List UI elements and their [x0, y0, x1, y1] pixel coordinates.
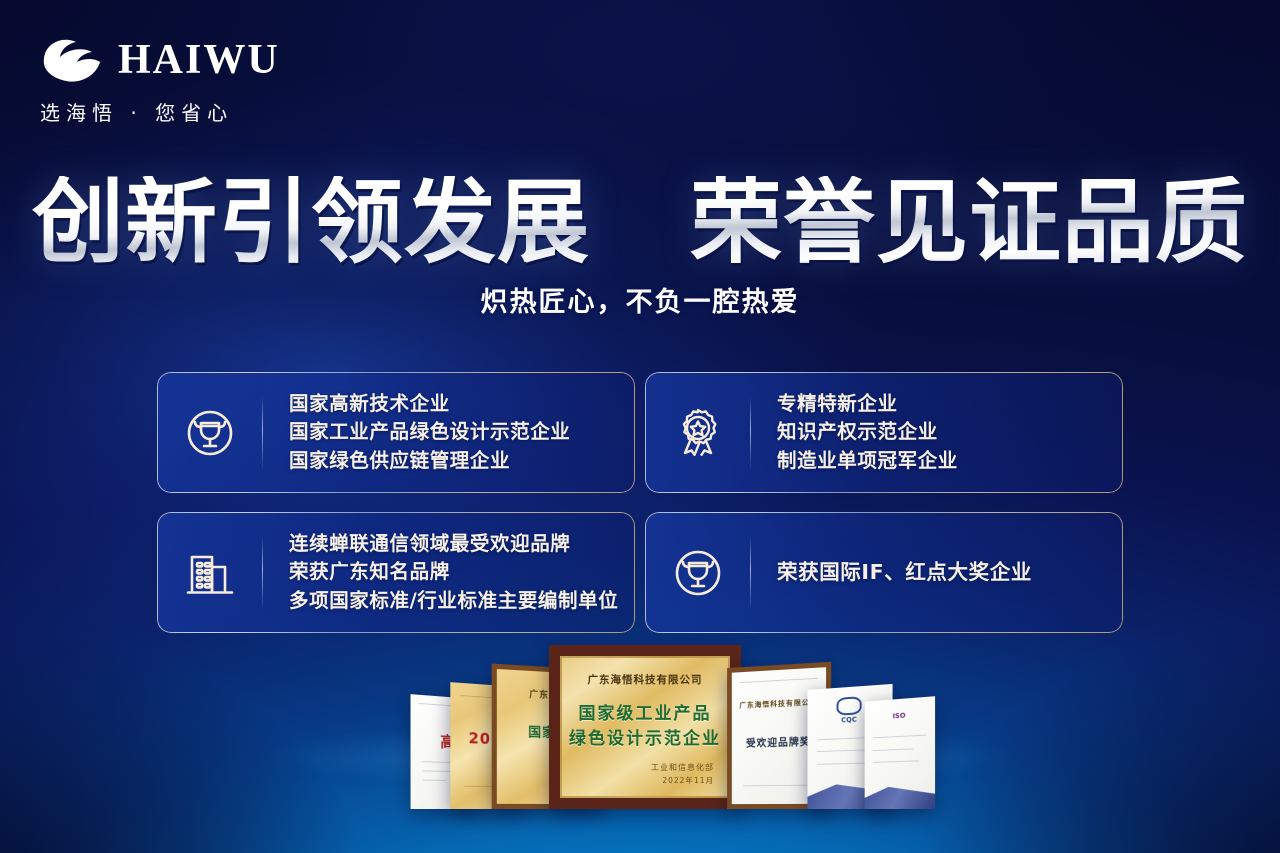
credential-line: 知识产权示范企业	[777, 418, 958, 446]
certificate-right-3: ISO	[865, 696, 935, 809]
poster-canvas: HAIWU 选海悟 · 您省心 创新引领发展 荣誉见证品质 炽热匠心，不负一腔热…	[0, 0, 1280, 853]
hero-headline: 创新引领发展 荣誉见证品质	[0, 176, 1280, 270]
plaque-issuer: 工业和信息化部	[624, 762, 714, 773]
brand-tagline: 选海悟 · 您省心	[40, 97, 340, 126]
credential-card-2-lines: 专精特新企业 知识产权示范企业 制造业单项冠军企业	[751, 390, 970, 475]
credential-line: 荣获国际IF、红点大奖企业	[777, 558, 1032, 588]
credential-line: 连续蝉联通信领域最受欢迎品牌	[289, 530, 618, 558]
plaque-company: 广东海悟科技有限公司	[562, 672, 728, 687]
credential-line: 制造业单项冠军企业	[777, 447, 958, 475]
plaque-title-1: 国家级工业产品	[562, 699, 728, 724]
credential-line: 国家绿色供应链管理企业	[289, 447, 570, 475]
credential-line: 国家高新技术企业	[289, 390, 570, 418]
brand-logo: HAIWU 选海悟 · 您省心	[40, 34, 340, 126]
medal-star-icon	[646, 405, 750, 461]
headline-left-phrase: 创新引领发展	[32, 169, 590, 276]
plaque-date: 2022年11月	[624, 775, 714, 786]
credential-card-3[interactable]: 连续蝉联通信领域最受欢迎品牌 荣获广东知名品牌 多项国家标准/行业标准主要编制单…	[157, 512, 635, 633]
credential-card-4[interactable]: 荣获国际IF、红点大奖企业	[645, 512, 1123, 633]
hero-subtitle: 炽热匠心，不负一腔热爱	[0, 280, 1280, 319]
leaf-wave-icon	[40, 34, 104, 86]
trophy-circle-icon	[158, 405, 262, 461]
credential-line: 专精特新企业	[777, 390, 958, 418]
credential-line: 国家工业产品绿色设计示范企业	[289, 418, 570, 446]
certificate-right-3-label: ISO	[865, 710, 935, 723]
credential-line: 多项国家标准/行业标准主要编制单位	[289, 587, 618, 615]
credential-card-grid: 国家高新技术企业 国家工业产品绿色设计示范企业 国家绿色供应链管理企业	[157, 372, 1123, 633]
certificate-gallery: 高 2023 广东海悟 国家绿 广东海悟科技有限公司 国家级工业产品 绿色设计示…	[0, 633, 1280, 809]
credential-card-2[interactable]: 专精特新企业 知识产权示范企业 制造业单项冠军企业	[645, 372, 1123, 493]
credential-card-3-lines: 连续蝉联通信领域最受欢迎品牌 荣获广东知名品牌 多项国家标准/行业标准主要编制单…	[263, 530, 630, 615]
plaque-title-2: 绿色设计示范企业	[562, 724, 728, 749]
brand-wordmark: HAIWU	[118, 39, 280, 81]
headline-right-phrase: 荣誉见证品质	[690, 169, 1248, 276]
trophy-circle-icon	[646, 545, 750, 601]
credential-card-1[interactable]: 国家高新技术企业 国家工业产品绿色设计示范企业 国家绿色供应链管理企业	[157, 372, 635, 493]
credential-line: 荣获广东知名品牌	[289, 558, 618, 586]
credential-card-1-lines: 国家高新技术企业 国家工业产品绿色设计示范企业 国家绿色供应链管理企业	[263, 390, 582, 475]
credential-card-4-lines: 荣获国际IF、红点大奖企业	[751, 558, 1044, 588]
certificate-center-plaque: 广东海悟科技有限公司 国家级工业产品 绿色设计示范企业 工业和信息化部 2022…	[549, 645, 741, 809]
building-icon	[158, 545, 262, 601]
